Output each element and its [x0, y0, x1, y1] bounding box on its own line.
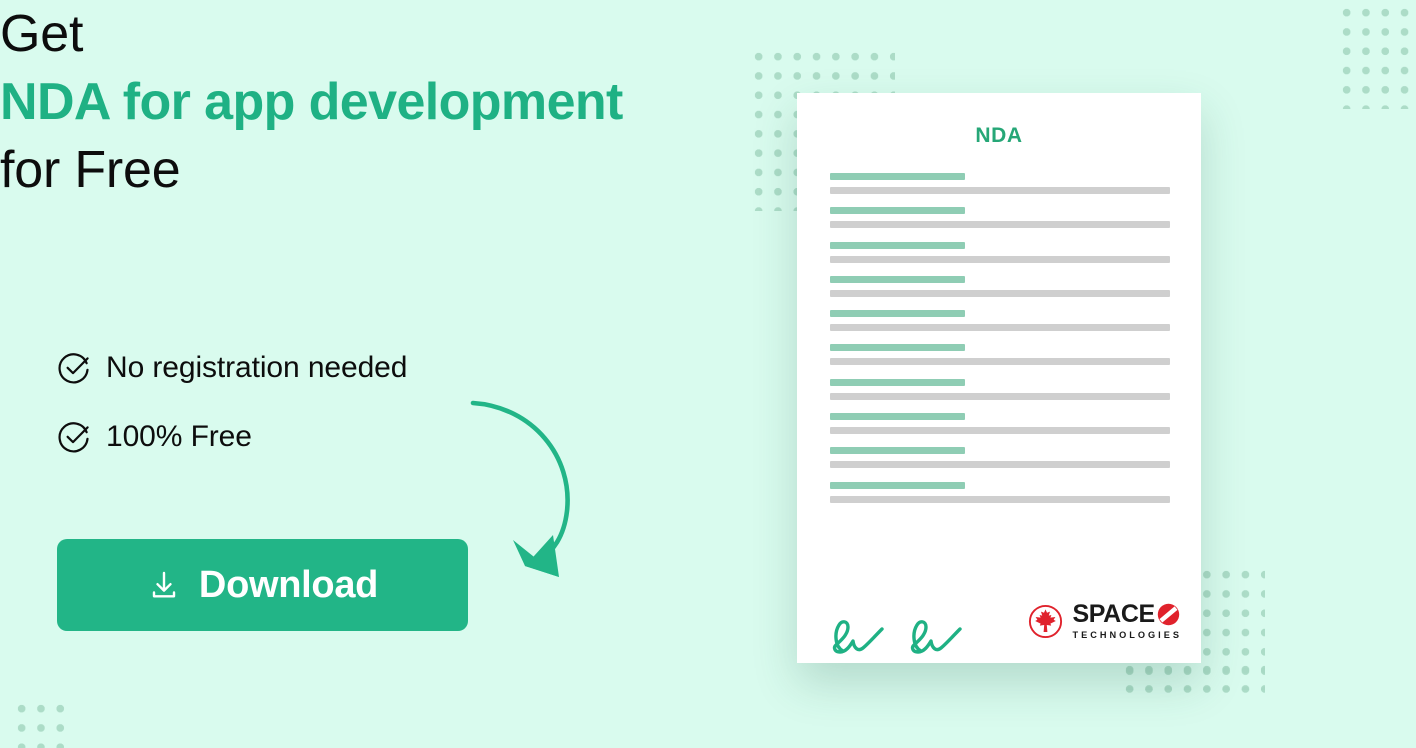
download-icon: [147, 568, 181, 602]
list-item: 100% Free: [57, 415, 657, 459]
document-line-pair: [830, 173, 1170, 194]
document-line-body: [830, 461, 1170, 468]
document-line-pair: [830, 276, 1170, 297]
brand-logo: SPACE TECHNOLOGIES: [1028, 602, 1182, 641]
document-line-body: [830, 358, 1170, 365]
nda-document-card: NDA: [797, 93, 1201, 663]
brand-name-text: SPACE: [1072, 602, 1154, 627]
dot-grid-bottom-right-lower: [1120, 660, 1265, 702]
slashed-o-icon: [1157, 603, 1180, 626]
document-line-pair: [830, 413, 1170, 434]
document-line-body: [830, 427, 1170, 434]
dot-grid-bottom-left: [12, 699, 72, 748]
check-circle-icon: [57, 351, 91, 385]
check-circle-icon: [57, 420, 91, 454]
brand-name-row: SPACE: [1072, 602, 1182, 627]
document-line-heading: [830, 310, 965, 317]
signature-squiggle-icon: [908, 615, 968, 660]
download-button-label: Download: [199, 565, 378, 605]
document-line-pair: [830, 447, 1170, 468]
signature-squiggle-icon: [830, 615, 890, 660]
document-line-body: [830, 187, 1170, 194]
document-line-heading: [830, 242, 965, 249]
document-line-body: [830, 290, 1170, 297]
document-line-body: [830, 221, 1170, 228]
document-line-pair: [830, 379, 1170, 400]
document-line-heading: [830, 379, 965, 386]
promo-banner: Get NDA for app development for Free No …: [0, 0, 1416, 748]
benefits-list: No registration needed 100% Free: [57, 346, 657, 484]
benefit-label: 100% Free: [106, 420, 252, 454]
benefit-label: No registration needed: [106, 351, 407, 385]
document-line-pair: [830, 310, 1170, 331]
headline-line-1: Get: [0, 0, 1416, 68]
document-line-pair: [830, 207, 1170, 228]
headline-line-2: NDA for app development: [0, 68, 1416, 136]
maple-leaf-circle-icon: [1028, 604, 1063, 639]
document-line-heading: [830, 207, 965, 214]
document-line-pair: [830, 482, 1170, 503]
document-line-body: [830, 393, 1170, 400]
document-line-body: [830, 496, 1170, 503]
page-title: Get NDA for app development for Free: [0, 0, 1416, 204]
brand-wordmark: SPACE TECHNOLOGIES: [1072, 602, 1182, 641]
document-line-heading: [830, 413, 965, 420]
document-line-heading: [830, 344, 965, 351]
document-line-pair: [830, 242, 1170, 263]
signature-area: [830, 615, 968, 660]
brand-tagline: TECHNOLOGIES: [1072, 629, 1182, 641]
document-line-heading: [830, 276, 965, 283]
document-line-heading: [830, 482, 965, 489]
list-item: No registration needed: [57, 346, 657, 390]
document-line-body: [830, 324, 1170, 331]
headline-line-3: for Free: [0, 136, 1416, 204]
download-button[interactable]: Download: [57, 539, 468, 631]
document-line-heading: [830, 447, 965, 454]
document-line-body: [830, 256, 1170, 263]
document-title: NDA: [797, 93, 1201, 148]
document-line-pair: [830, 344, 1170, 365]
document-text-lines: [830, 173, 1170, 516]
document-line-heading: [830, 173, 965, 180]
